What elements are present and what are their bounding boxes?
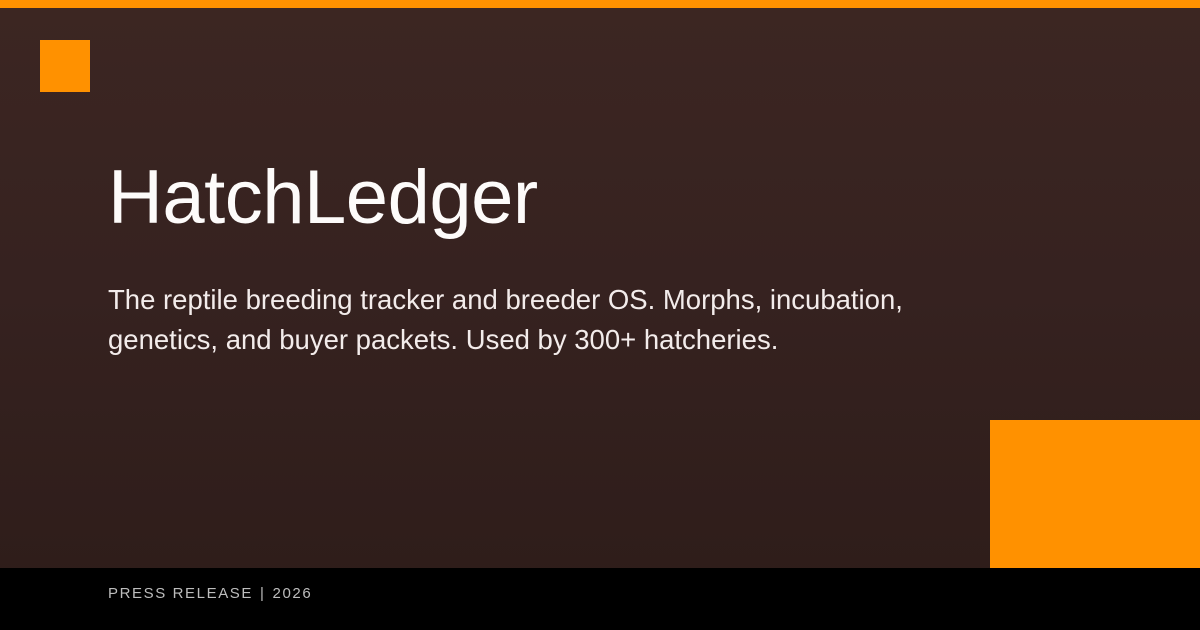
subtitle: The reptile breeding tracker and breeder… [108, 236, 948, 360]
content-block: HatchLedger The reptile breeding tracker… [108, 160, 1008, 360]
footer-kicker: PRESS RELEASE [108, 585, 253, 602]
footer-meta: PRESS RELEASE|2026 [108, 585, 312, 603]
footer-year: 2026 [273, 585, 313, 602]
top-accent-bar [0, 0, 1200, 8]
press-release-slide: HatchLedger The reptile breeding tracker… [0, 0, 1200, 630]
page-title: HatchLedger [108, 160, 1008, 236]
orange-square-logo-mark [40, 40, 90, 92]
footer-separator: | [253, 585, 273, 602]
accent-block [990, 420, 1200, 568]
